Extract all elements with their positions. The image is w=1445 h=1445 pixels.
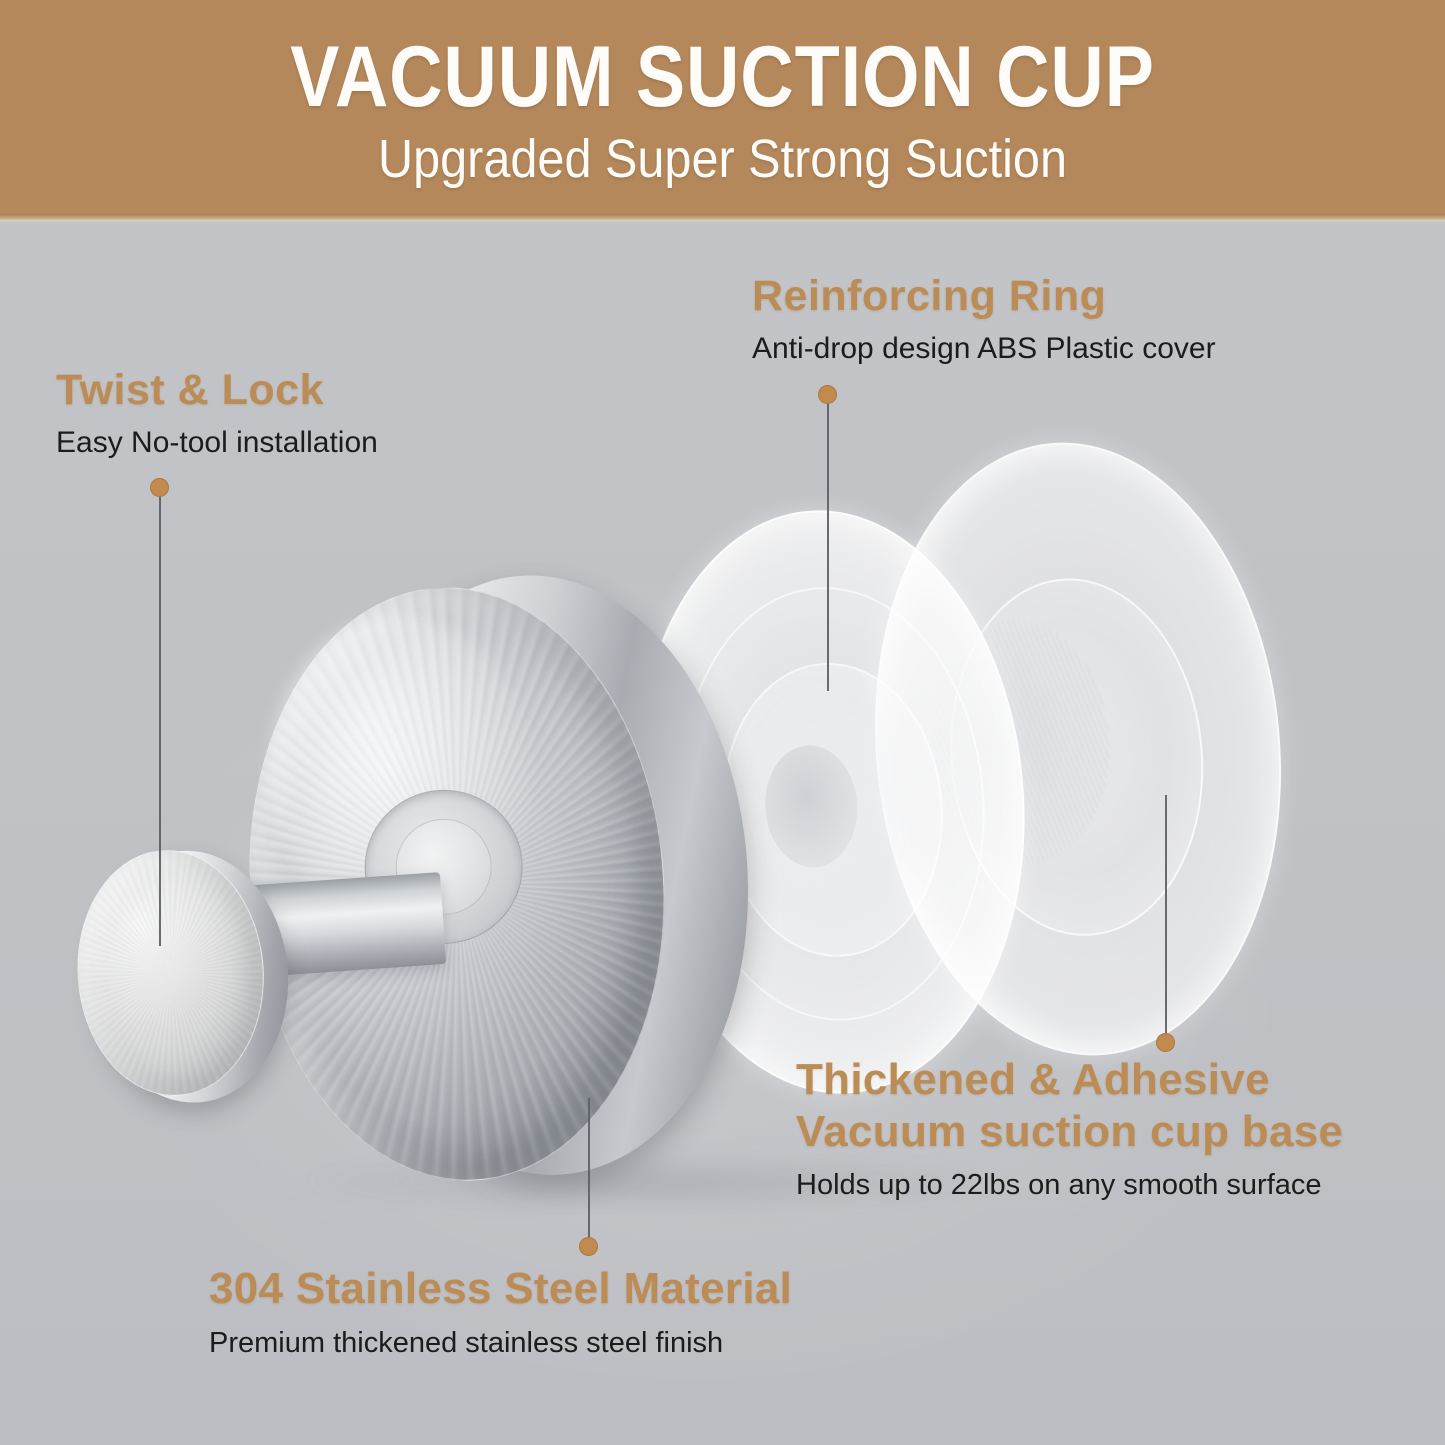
callout-suction-cup-base-title-line1: Thickened & Adhesive bbox=[796, 1057, 1343, 1104]
callout-stainless-steel-subtitle: Premium thickened stainless steel finish bbox=[209, 1313, 792, 1360]
callout-stainless-steel: 304 Stainless Steel Material Premium thi… bbox=[209, 1266, 792, 1360]
callout-suction-cup-base-title-line2: Vacuum suction cup base bbox=[796, 1104, 1343, 1156]
product-infographic: VACUUM SUCTION CUP Upgraded Super Strong… bbox=[0, 0, 1445, 1445]
leader-line-suction-cup-base bbox=[1165, 795, 1167, 1035]
callout-reinforcing-ring-subtitle: Anti-drop design ABS Plastic cover bbox=[752, 320, 1216, 367]
header-banner: VACUUM SUCTION CUP Upgraded Super Strong… bbox=[0, 0, 1445, 222]
banner-title: VACUUM SUCTION CUP bbox=[101, 0, 1344, 120]
callout-suction-cup-base: Thickened & Adhesive Vacuum suction cup … bbox=[796, 1057, 1343, 1203]
leader-dot-reinforcing-ring bbox=[818, 385, 837, 404]
callout-twist-lock-subtitle: Easy No-tool installation bbox=[56, 414, 378, 461]
leader-dot-suction-cup-base bbox=[1156, 1033, 1175, 1052]
callout-stainless-steel-title: 304 Stainless Steel Material bbox=[209, 1266, 792, 1313]
hook-knob bbox=[65, 834, 333, 1121]
leader-line-stainless-steel bbox=[588, 1098, 590, 1240]
callout-suction-cup-base-subtitle: Holds up to 22lbs on any smooth surface bbox=[796, 1155, 1343, 1202]
banner-subtitle: Upgraded Super Strong Suction bbox=[72, 120, 1373, 186]
callout-twist-lock: Twist & Lock Easy No-tool installation bbox=[56, 368, 378, 460]
leader-line-twist-lock bbox=[159, 496, 161, 946]
callout-reinforcing-ring-title: Reinforcing Ring bbox=[752, 274, 1216, 320]
leader-line-reinforcing-ring bbox=[827, 403, 829, 691]
callout-reinforcing-ring: Reinforcing Ring Anti-drop design ABS Pl… bbox=[752, 274, 1216, 366]
header-banner-text: VACUUM SUCTION CUP Upgraded Super Strong… bbox=[0, 0, 1445, 186]
leader-dot-stainless-steel bbox=[579, 1237, 598, 1256]
callout-twist-lock-title: Twist & Lock bbox=[56, 368, 378, 414]
leader-dot-twist-lock bbox=[150, 478, 169, 497]
